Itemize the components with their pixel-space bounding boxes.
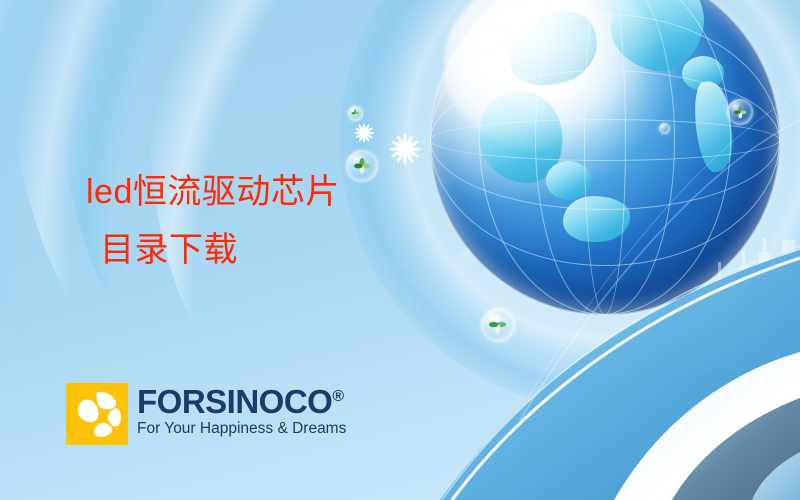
bubble-lower-left — [481, 308, 515, 342]
registered-trademark-symbol: ® — [332, 388, 343, 405]
bubble-right-upper — [727, 99, 753, 125]
page-title: led恒流驱动芯片 目录下载 — [86, 164, 340, 280]
brand-logo[interactable]: FORSINOCO® For Your Happiness & Dreams — [66, 383, 346, 445]
pinwheel-icon — [488, 315, 507, 334]
pinwheel-icon — [353, 157, 371, 175]
four-petal-flower-icon — [66, 383, 128, 445]
city-skyline-icon — [680, 232, 800, 372]
headline-line-1: led恒流驱动芯片 — [86, 173, 340, 211]
bubble-small-top — [348, 106, 363, 121]
pinwheel-icon — [733, 105, 748, 120]
bubble-large-middle — [346, 150, 378, 182]
bubble-tiny-right — [659, 123, 670, 134]
logo-text-block: FORSINOCO® For Your Happiness & Dreams — [137, 383, 346, 439]
starburst-small-icon — [353, 122, 375, 144]
logo-wordmark: FORSINOCO® — [137, 385, 346, 418]
logo-tagline: For Your Happiness & Dreams — [137, 420, 346, 439]
promotional-banner: led恒流驱动芯片 目录下载 FORSINOCO® For Your Happi… — [0, 0, 800, 500]
logo-brand-name: FORSINOCO — [137, 383, 332, 420]
headline-line-2: 目录下载 — [86, 222, 340, 280]
starburst-large-icon — [388, 132, 422, 166]
pinwheel-icon — [351, 109, 359, 117]
